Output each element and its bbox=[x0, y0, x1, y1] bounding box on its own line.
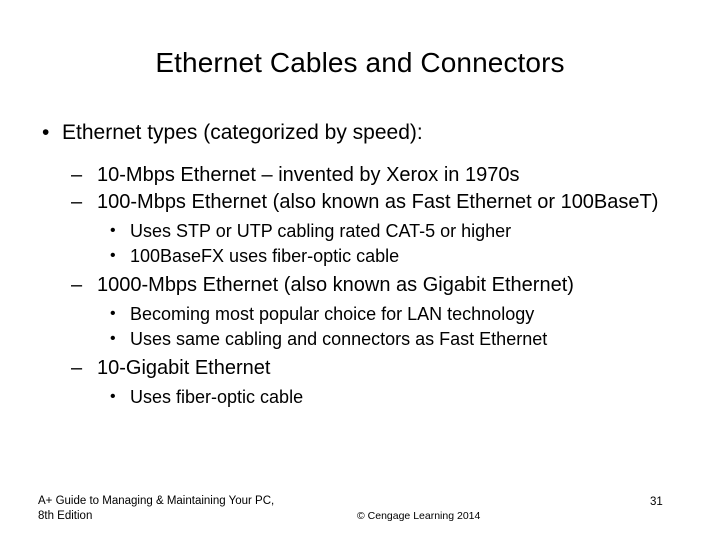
outline-item-level3: • Uses same cabling and connectors as Fa… bbox=[36, 327, 688, 351]
outline-item-level3: • Uses fiber-optic cable bbox=[36, 385, 688, 409]
outline-item-text: 10-Mbps Ethernet – invented by Xerox in … bbox=[97, 164, 519, 186]
bullet-marker-icon: • bbox=[110, 219, 116, 243]
outline-item-level3: • Uses STP or UTP cabling rated CAT-5 or… bbox=[36, 219, 688, 243]
outline-item-level1: • Ethernet types (categorized by speed): bbox=[36, 118, 688, 148]
outline-item-text: 100-Mbps Ethernet (also known as Fast Et… bbox=[97, 191, 658, 213]
slide-title: Ethernet Cables and Connectors bbox=[36, 46, 684, 80]
dash-marker-icon: – bbox=[71, 272, 82, 298]
outline-item-text: 1000-Mbps Ethernet (also known as Gigabi… bbox=[97, 274, 574, 296]
outline-item-text: Ethernet types (categorized by speed): bbox=[62, 121, 423, 144]
outline-item-text: Uses fiber-optic cable bbox=[130, 387, 303, 407]
dash-marker-icon: – bbox=[71, 162, 82, 188]
dash-marker-icon: – bbox=[71, 355, 82, 381]
outline-item-level3: • Becoming most popular choice for LAN t… bbox=[36, 302, 688, 326]
outline-item-level2: – 10-Gigabit Ethernet bbox=[36, 355, 688, 381]
footer-page-number: 31 bbox=[650, 495, 690, 510]
outline-item-text: Becoming most popular choice for LAN tec… bbox=[130, 304, 534, 324]
outline-item-level3: • 100BaseFX uses fiber-optic cable bbox=[36, 244, 688, 268]
bullet-marker-icon: • bbox=[42, 118, 49, 148]
bullet-marker-icon: • bbox=[110, 385, 116, 409]
outline-item-level2: – 100-Mbps Ethernet (also known as Fast … bbox=[36, 189, 688, 215]
footer-copyright: © Cengage Learning 2014 bbox=[357, 509, 480, 523]
outline-item-text: 10-Gigabit Ethernet bbox=[97, 357, 270, 379]
footer-book-title: A+ Guide to Managing & Maintaining Your … bbox=[38, 494, 274, 524]
footer-book-title-line2: 8th Edition bbox=[38, 509, 274, 524]
outline-item-text: Uses same cabling and connectors as Fast… bbox=[130, 329, 547, 349]
outline-item-level2: – 1000-Mbps Ethernet (also known as Giga… bbox=[36, 272, 688, 298]
bullet-marker-icon: • bbox=[110, 302, 116, 326]
bullet-marker-icon: • bbox=[110, 244, 116, 268]
slide: Ethernet Cables and Connectors • Etherne… bbox=[0, 0, 720, 540]
slide-body-outline: • Ethernet types (categorized by speed):… bbox=[36, 118, 688, 410]
footer-book-title-line1: A+ Guide to Managing & Maintaining Your … bbox=[38, 494, 274, 509]
outline-item-level2: – 10-Mbps Ethernet – invented by Xerox i… bbox=[36, 162, 688, 188]
outline-item-text: Uses STP or UTP cabling rated CAT-5 or h… bbox=[130, 221, 511, 241]
dash-marker-icon: – bbox=[71, 189, 82, 215]
bullet-marker-icon: • bbox=[110, 327, 116, 351]
outline-item-text: 100BaseFX uses fiber-optic cable bbox=[130, 246, 399, 266]
